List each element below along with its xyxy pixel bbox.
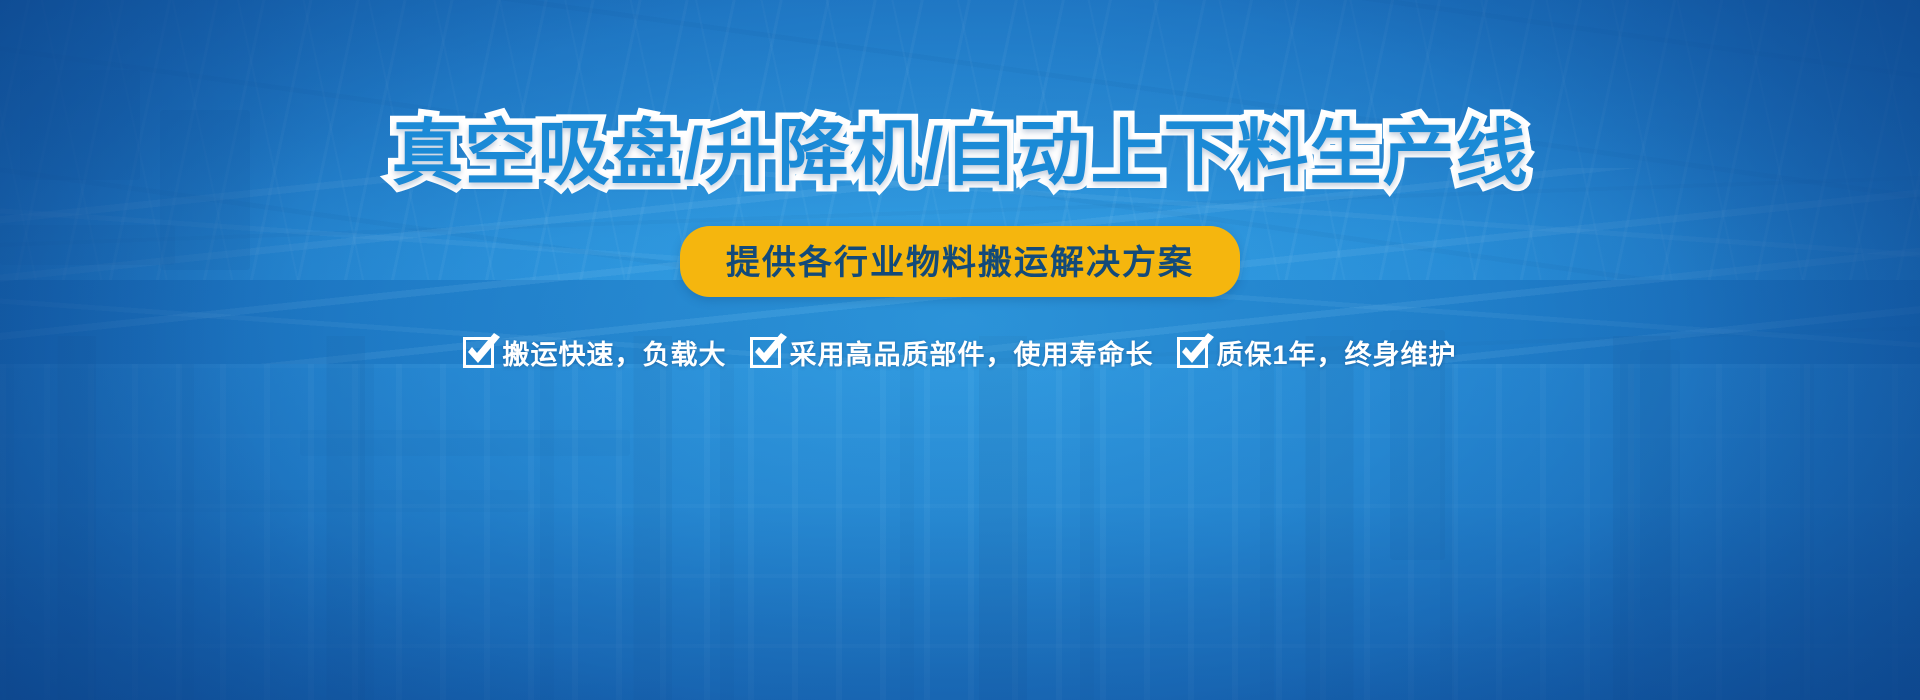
check-box-icon (463, 337, 494, 368)
feature-item: 搬运快速，负载大 (463, 333, 726, 372)
feature-label: 质保1年，终身维护 (1216, 333, 1456, 372)
feature-item: 质保1年，终身维护 (1177, 333, 1456, 372)
feature-label: 采用高品质部件，使用寿命长 (789, 333, 1153, 372)
check-box-icon (750, 337, 781, 368)
banner-content: 真空吸盘/升降机/自动上下料生产线 提供各行业物料搬运解决方案 搬运快速，负载大… (0, 0, 1920, 700)
check-box-icon (1177, 337, 1208, 368)
banner-headline: 真空吸盘/升降机/自动上下料生产线 (391, 118, 1528, 190)
feature-list: 搬运快速，负载大 采用高品质部件，使用寿命长 质保1年，终身维护 (463, 333, 1456, 372)
tagline-pill-button[interactable]: 提供各行业物料搬运解决方案 (680, 226, 1240, 297)
hero-banner: 真空吸盘/升降机/自动上下料生产线 提供各行业物料搬运解决方案 搬运快速，负载大… (0, 0, 1920, 700)
feature-label: 搬运快速，负载大 (502, 333, 726, 372)
feature-item: 采用高品质部件，使用寿命长 (750, 333, 1153, 372)
